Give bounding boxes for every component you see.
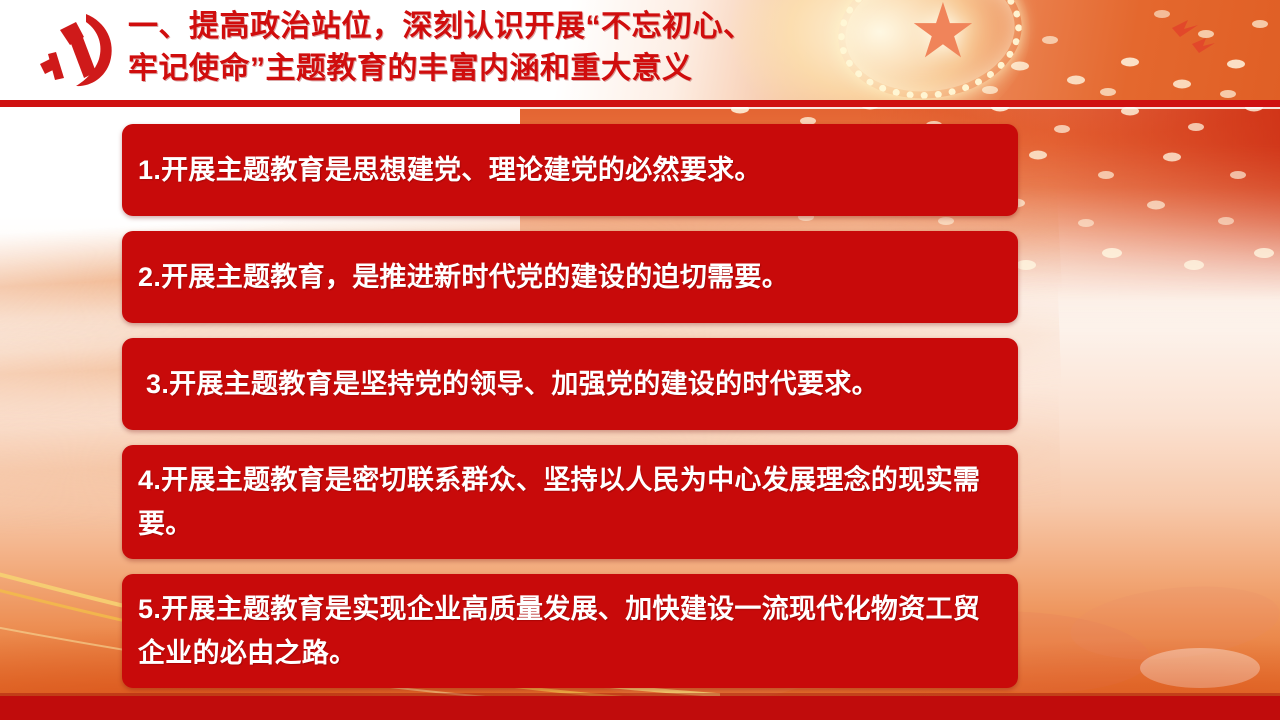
background-cloud-3 — [1067, 577, 1280, 669]
header-divider-highlight — [0, 107, 1280, 109]
slide-root: ★ — [0, 0, 1280, 720]
list-item-text: 4.开展主题教育是密切联系群众、坚持以人民为中心发展理念的现实需要。 — [138, 458, 1000, 546]
footer-bar — [0, 696, 1280, 720]
page-title: 一、提高政治站位，深刻认识开展“不忘初心、 牢记使命”主题教育的丰富内涵和重大意… — [128, 6, 888, 90]
hammer-sickle-emblem-icon — [26, 8, 122, 92]
list-item-text: 2.开展主题教育，是推进新时代党的建设的迫切需要。 — [138, 255, 789, 299]
content-list: 1.开展主题教育是思想建党、理论建党的必然要求。 2.开展主题教育，是推进新时代… — [122, 124, 1018, 703]
list-item[interactable]: 2.开展主题教育，是推进新时代党的建设的迫切需要。 — [122, 231, 1018, 323]
header-divider — [0, 100, 1280, 107]
list-item-text: 3.开展主题教育是坚持党的领导、加强党的建设的时代要求。 — [146, 362, 879, 406]
list-item[interactable]: 1.开展主题教育是思想建党、理论建党的必然要求。 — [122, 124, 1018, 216]
list-item[interactable]: 3.开展主题教育是坚持党的领导、加强党的建设的时代要求。 — [122, 338, 1018, 430]
list-item-text: 5.开展主题教育是实现企业高质量发展、加快建设一流现代化物资工贸企业的必由之路。 — [138, 587, 1000, 675]
list-item[interactable]: 4.开展主题教育是密切联系群众、坚持以人民为中心发展理念的现实需要。 — [122, 445, 1018, 559]
list-item-text: 1.开展主题教育是思想建党、理论建党的必然要求。 — [138, 148, 762, 192]
slide-header: ★ — [0, 0, 1280, 100]
list-item[interactable]: 5.开展主题教育是实现企业高质量发展、加快建设一流现代化物资工贸企业的必由之路。 — [122, 574, 1018, 688]
background-cloud-5 — [1140, 648, 1260, 688]
